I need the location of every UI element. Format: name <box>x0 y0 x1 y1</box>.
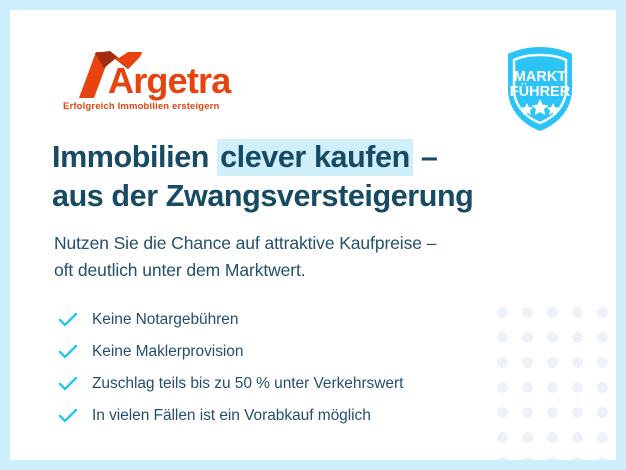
logo-tagline: Erfolgreich Immobilien ersteigern <box>63 101 219 112</box>
headline-suffix: – <box>413 140 438 174</box>
dot <box>547 332 558 343</box>
dot <box>497 457 508 460</box>
dot <box>547 432 558 443</box>
check-icon <box>56 376 92 392</box>
list-item-label: In vielen Fällen ist ein Vorabkauf mögli… <box>92 407 371 425</box>
check-icon <box>56 344 92 360</box>
list-item: Keine Maklerprovision <box>56 336 526 368</box>
headline-prefix: Immobilien <box>52 140 217 174</box>
list-item: Keine Notargebühren <box>56 304 526 336</box>
dot <box>597 332 608 343</box>
dot <box>597 357 608 368</box>
argetra-roof-a-icon: Argetra <box>58 46 258 104</box>
benefits-checklist: Keine Notargebühren Keine Maklerprovisio… <box>56 304 526 432</box>
list-item-label: Keine Maklerprovision <box>92 343 243 361</box>
check-icon <box>56 408 92 424</box>
dot <box>597 382 608 393</box>
dot <box>547 407 558 418</box>
dot <box>547 382 558 393</box>
dot <box>522 457 533 460</box>
banner-canvas: Argetra Erfolgreich Immobilien ersteiger… <box>10 10 616 460</box>
page-title: Immobilien clever kaufen – aus der Zwang… <box>52 138 552 216</box>
dot <box>522 432 533 443</box>
dot <box>547 307 558 318</box>
dot <box>597 307 608 318</box>
promo-banner: Argetra Erfolgreich Immobilien ersteiger… <box>0 0 626 470</box>
subtitle-line-2: oft deutlich unter dem Marktwert. <box>54 257 574 284</box>
dot <box>597 432 608 443</box>
dot <box>497 432 508 443</box>
dot <box>597 407 608 418</box>
headline-line-1: Immobilien clever kaufen – <box>52 138 552 177</box>
headline-highlight: clever kaufen <box>217 139 413 176</box>
dot <box>572 407 583 418</box>
badge-line1-text: MARKT <box>514 69 566 85</box>
dot <box>547 357 558 368</box>
dot <box>572 382 583 393</box>
headline-line-2: aus der Zwangsversteigerung <box>52 177 552 216</box>
check-icon <box>56 312 92 328</box>
argetra-logo[interactable]: Argetra Erfolgreich Immobilien ersteiger… <box>58 46 258 118</box>
dot <box>572 332 583 343</box>
market-leader-badge: MARKT FÜHRER <box>494 43 586 135</box>
shield-badge-icon: MARKT FÜHRER <box>494 43 586 135</box>
dot <box>572 432 583 443</box>
subtitle-line-1: Nutzen Sie die Chance auf attraktive Kau… <box>54 230 574 257</box>
list-item-label: Keine Notargebühren <box>92 311 238 329</box>
dot <box>547 457 558 460</box>
page-subtitle: Nutzen Sie die Chance auf attraktive Kau… <box>54 230 574 283</box>
list-item: In vielen Fällen ist ein Vorabkauf mögli… <box>56 400 526 432</box>
badge-line2-text: FÜHRER <box>510 83 571 100</box>
list-item-label: Zuschlag teils bis zu 50 % unter Verkehr… <box>92 375 403 393</box>
list-item: Zuschlag teils bis zu 50 % unter Verkehr… <box>56 368 526 400</box>
dot <box>597 457 608 460</box>
dot <box>572 357 583 368</box>
dot <box>572 307 583 318</box>
svg-text:Argetra: Argetra <box>108 60 232 101</box>
dot <box>572 457 583 460</box>
